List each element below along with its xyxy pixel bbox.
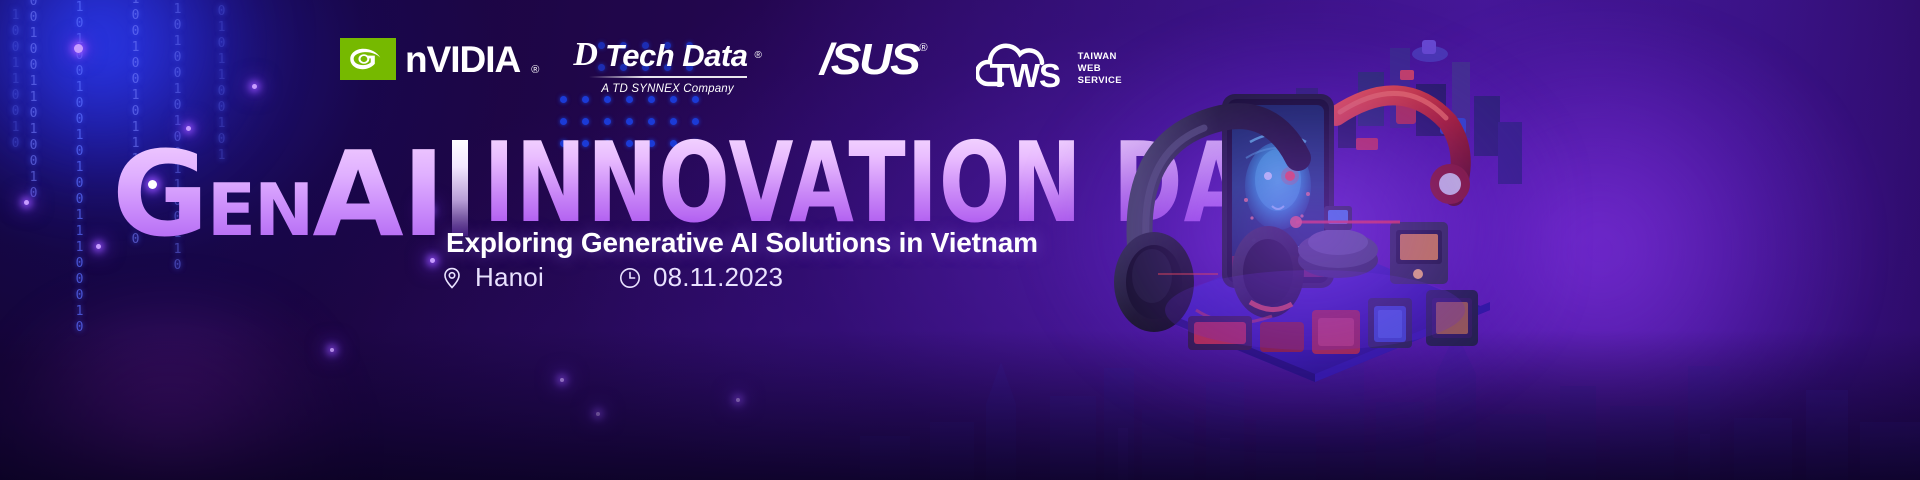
bottom-fade-overlay [0,330,1920,480]
genai-en: EN [207,168,312,252]
magenta-glow-bottom-left [0,300,380,480]
nvidia-trademark: ® [531,64,539,80]
spark-decoration [252,84,257,89]
genai-ai: AI [312,125,443,263]
techdata-divider-rule [589,76,747,78]
nvidia-eye-icon [340,38,396,80]
techdata-trademark: ® [754,50,761,61]
asus-wordmark: /SUS [820,38,918,82]
techdata-wordmark: Tech Data [605,40,748,71]
asus-logo: /SUS ® [822,38,928,82]
cityscape-silhouette [0,310,1920,480]
spark-decoration [736,398,740,402]
spark-decoration [74,44,83,53]
techdata-logo: D Tech Data ® A TD SYNNEX Company [573,38,761,97]
event-location-label: Hanoi [475,262,544,293]
spark-decoration [596,412,600,416]
event-date-label: 08.11.2023 [653,262,783,293]
nvidia-logo: nVIDIA ® [340,38,539,80]
partner-logo-row: nVIDIA ® D Tech Data ® A TD SYNNEX Compa… [340,38,1122,97]
spark-decoration [96,244,101,249]
asus-trademark: ® [920,42,928,54]
event-location: Hanoi [440,262,544,293]
techdata-lockup: D Tech Data ® [573,38,761,72]
clock-icon [618,266,642,290]
genai-innovation-day-banner: 0010011010010 1101001001010011100010 100… [0,0,1920,480]
nvidia-wordmark: nVIDIA [405,41,520,78]
binary-column-1: 0010011010010 [26,0,41,202]
techdata-monogram: D [573,38,598,72]
binary-column-6: 100110010 [8,8,23,152]
genai-wordmark: GENAI [112,140,444,249]
spark-decoration [330,348,334,352]
illustration-glow [1040,20,1560,420]
genai-g: G [112,125,207,263]
headline-divider-bar [452,140,468,236]
event-date: 08.11.2023 [618,262,783,293]
spark-decoration [560,378,564,382]
tech-illustration [1100,10,1530,390]
techdata-tagline: A TD SYNNEX Company [601,83,733,95]
spark-decoration [24,200,29,205]
location-pin-icon [440,266,464,290]
event-meta-row: Hanoi 08.11.2023 [440,262,783,293]
event-subtitle: Exploring Generative AI Solutions in Vie… [446,227,1038,259]
